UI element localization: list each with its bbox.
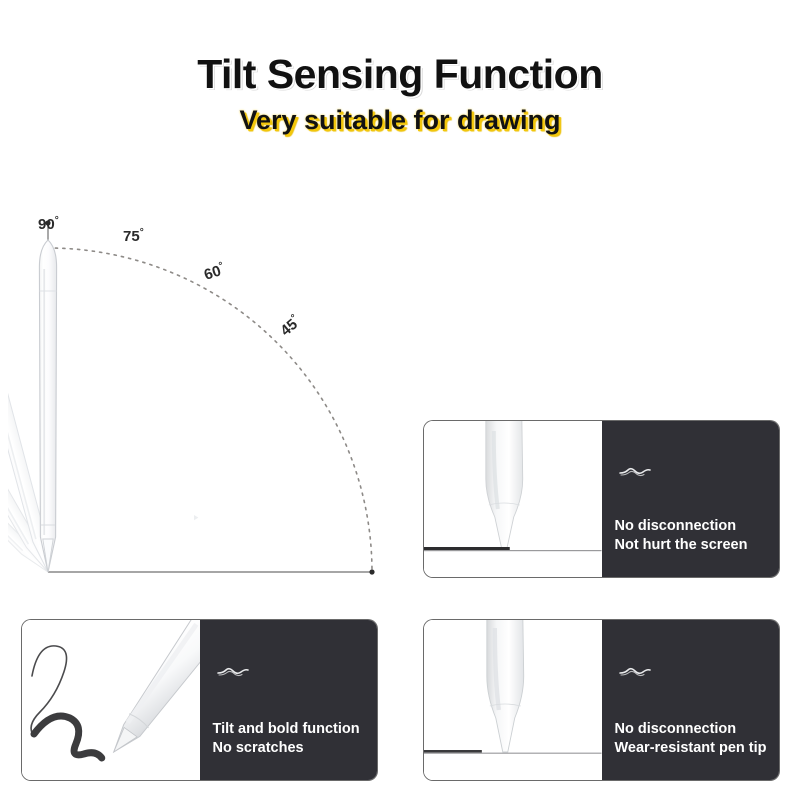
panel-photo-stylus-tip-closeup — [424, 620, 602, 780]
degree-symbol: ° — [140, 227, 144, 238]
stylus-90deg — [39, 240, 56, 572]
stylus-tilt-angle-diagram: 90° 75° 60° 45° — [8, 195, 408, 595]
wave-icon — [618, 665, 652, 679]
panel-dark-side: No disconnection Wear-resistant pen tip — [602, 620, 780, 780]
feature-panel-no-disconnection: No disconnection Not hurt the screen — [424, 421, 779, 577]
caption-line-1: No disconnection — [615, 518, 737, 534]
page-title: Tilt Sensing Function — [0, 50, 800, 98]
baseline-end-dot — [369, 569, 374, 574]
caption-line-2: Wear-resistant pen tip — [615, 739, 767, 758]
caption-line-2: No scratches — [213, 739, 360, 758]
panel-photo-stylus-drawing-scribble — [22, 620, 200, 780]
tilt-diagram-svg — [8, 195, 408, 595]
panel-caption: Tilt and bold function No scratches — [213, 720, 360, 758]
angle-label-90-value: 90 — [38, 216, 55, 233]
caption-line-1: No disconnection — [615, 721, 737, 737]
angle-label-75-value: 75 — [123, 228, 140, 245]
heading-block: Tilt Sensing Function Very suitable for … — [0, 50, 800, 138]
panel-dark-side: Tilt and bold function No scratches — [200, 620, 378, 780]
feature-panel-tilt-and-bold: Tilt and bold function No scratches — [22, 620, 377, 780]
caption-line-2: Not hurt the screen — [615, 536, 748, 555]
panel-dark-side: No disconnection Not hurt the screen — [602, 421, 780, 577]
pen-logo-mark — [194, 515, 198, 520]
degree-symbol: ° — [55, 215, 59, 226]
page-subtitle: Very suitable for drawing — [0, 102, 800, 138]
panel-caption: No disconnection Wear-resistant pen tip — [615, 720, 767, 758]
angle-arc — [48, 248, 372, 572]
feature-panel-wear-resistant: No disconnection Wear-resistant pen tip — [424, 620, 779, 780]
angle-label-90: 90° — [38, 215, 59, 233]
panel-caption: No disconnection Not hurt the screen — [615, 517, 748, 555]
caption-line-1: Tilt and bold function — [213, 721, 360, 737]
angle-label-75: 75° — [123, 227, 144, 245]
wave-icon — [618, 465, 652, 479]
wave-icon — [216, 665, 250, 679]
panel-photo-stylus-tip-on-screen — [424, 421, 602, 577]
